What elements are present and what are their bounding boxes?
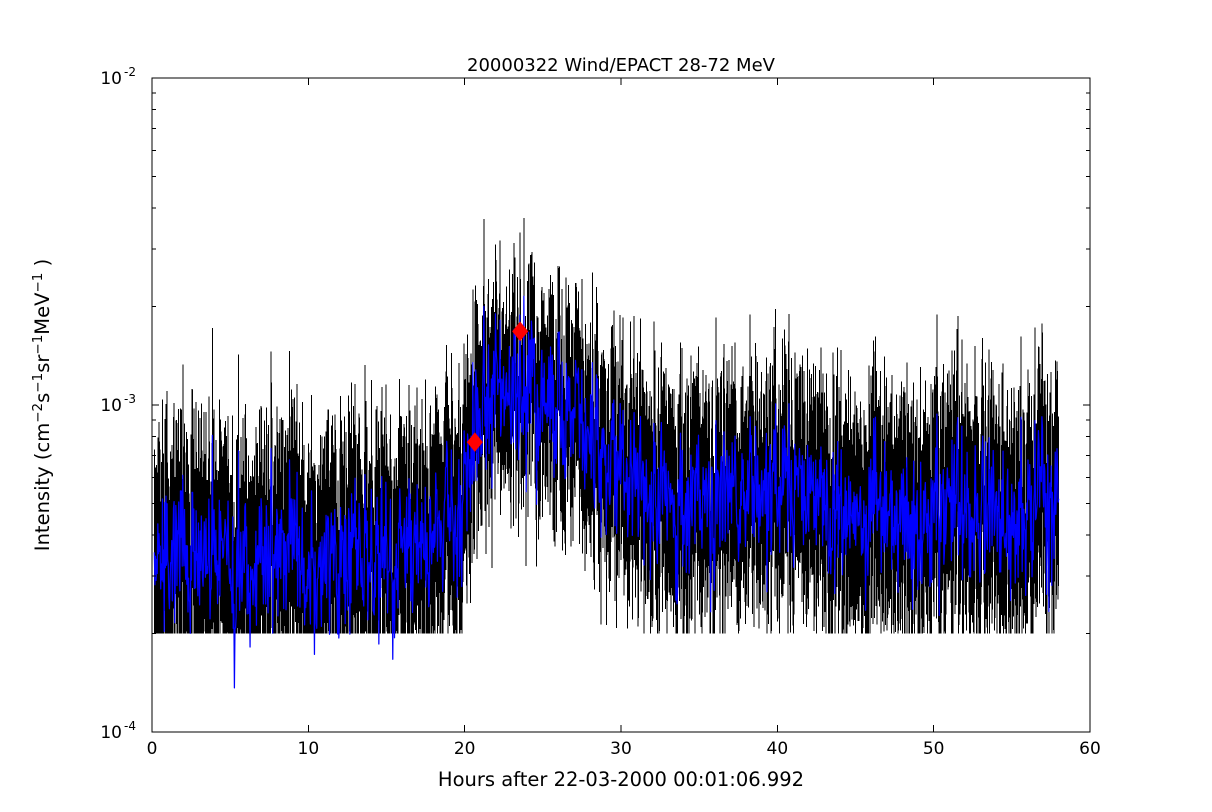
y-axis-title-part-5: −1 [30, 335, 46, 355]
y-axis-title-part-7: −1 [30, 273, 46, 293]
y-axis-title-part-2: s [31, 393, 54, 403]
y-axis-title-part-1: −2 [30, 403, 46, 423]
y-tick-mantissa-1: 10 [100, 396, 122, 416]
x-tick-label-20: 20 [454, 739, 476, 759]
x-tick-label-50: 50 [923, 739, 945, 759]
y-tick-mantissa-0: 10 [100, 723, 122, 743]
y-tick-exponent-2: -2 [124, 65, 136, 79]
y-axis-title-part-3: −1 [30, 373, 46, 393]
x-tick-label-40: 40 [767, 739, 789, 759]
y-axis-title-part-4: sr [31, 354, 54, 373]
chart-title: 20000322 Wind/EPACT 28-72 MeV [467, 55, 776, 76]
y-tick-mantissa-2: 10 [100, 69, 122, 89]
y-axis-title-part-6: MeV [31, 292, 54, 335]
x-axis-title: Hours after 22-03-2000 00:01:06.992 [438, 768, 804, 791]
x-tick-label-60: 60 [1079, 739, 1101, 759]
figure-canvas: 0102030405060 10-410-310-2 20000322 Wind… [0, 0, 1212, 812]
intensity-time-series-chart: 0102030405060 10-410-310-2 20000322 Wind… [0, 0, 1212, 812]
y-axis-title-part-8: ) [31, 259, 54, 273]
y-axis-title-part-0: Intensity (cm [31, 423, 54, 551]
y-tick-exponent-0: -4 [124, 719, 136, 733]
x-tick-label-30: 30 [610, 739, 632, 759]
y-tick-exponent-1: -3 [124, 392, 136, 406]
x-tick-label-10: 10 [298, 739, 320, 759]
x-tick-label-0: 0 [147, 739, 158, 759]
